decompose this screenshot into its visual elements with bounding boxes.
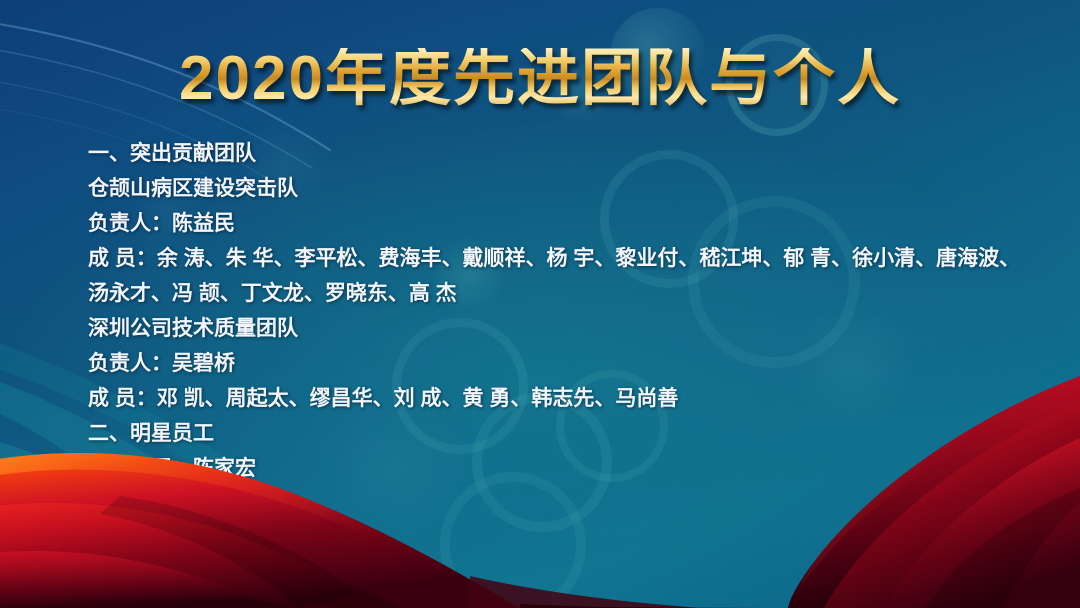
text-line: 负责人：陈益民 — [88, 206, 1048, 241]
text-line: 扬州公司：朱 靖 — [88, 486, 1048, 521]
text-line: 成 员：余 涛、朱 华、李平松、费海丰、戴顺祥、杨 宇、黎业付、嵇江坤、郁 青、… — [88, 241, 1048, 276]
presentation-slide: 2020年度先进团队与个人 一、突出贡献团队 仓颉山病区建设突击队 负责人：陈益… — [0, 0, 1080, 608]
slide-title: 2020年度先进团队与个人 — [0, 48, 1080, 110]
text-line: 深圳公司技术质量团队 — [88, 311, 1048, 346]
text-line: 二、明星员工 — [88, 416, 1048, 451]
text-line: 仓颉山病区建设突击队 — [88, 171, 1048, 206]
text-line: 成 员：邓 凯、周起太、缪昌华、刘 成、黄 勇、韩志先、马尚善 — [88, 381, 1048, 416]
text-line: 一、突出贡献团队 — [88, 136, 1048, 171]
text-line: 汤永才、冯 颉、丁文龙、罗晓东、高 杰 — [88, 276, 1048, 311]
slide-body: 一、突出贡献团队 仓颉山病区建设突击队 负责人：陈益民 成 员：余 涛、朱 华、… — [88, 136, 1048, 521]
text-line: 深圳公司：陈家宏 — [88, 451, 1048, 486]
text-line: 负责人：吴碧桥 — [88, 346, 1048, 381]
